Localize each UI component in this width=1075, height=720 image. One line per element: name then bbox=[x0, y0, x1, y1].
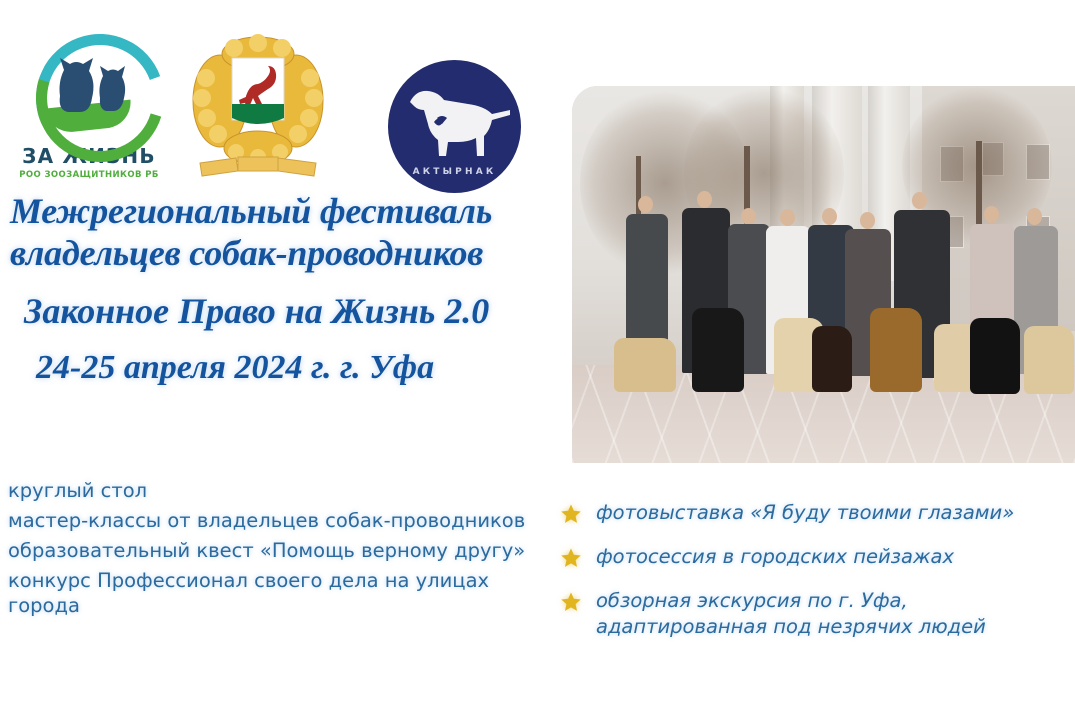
star-icon bbox=[560, 547, 582, 569]
festival-date-place: 24-25 апреля 2024 г. г. Уфа bbox=[0, 346, 578, 390]
festival-name: Законное Право на Жизнь 2.0 bbox=[0, 288, 578, 334]
star-icon bbox=[560, 591, 582, 613]
list-item: фотовыставка «Я буду твоими глазами» bbox=[560, 500, 1075, 526]
aktyrnak-label: АКТЫРНАК bbox=[388, 167, 521, 177]
dog-and-cat-in-circle-logo bbox=[30, 32, 148, 142]
list-item: образовательный квест «Помощь верному др… bbox=[8, 538, 564, 563]
logo-za-zhizn-subtitle: РОО ЗООЗАЩИТНИКОВ РБ bbox=[14, 170, 164, 180]
list-item: фотосессия в городских пейзажах bbox=[560, 544, 1075, 570]
logo-ufa-coat-of-arms bbox=[176, 26, 340, 186]
logo-za-zhizn: ЗА ЖИЗНЬ РОО ЗООЗАЩИТНИКОВ РБ bbox=[14, 32, 164, 187]
list-item: обзорная экскурсия по г. Уфа, адаптирова… bbox=[560, 588, 1075, 640]
group-photo bbox=[572, 86, 1075, 463]
poster-headings: Межрегиональный фестиваль владельцев соб… bbox=[0, 190, 578, 390]
star-icon bbox=[560, 503, 582, 525]
list-item: конкурс Профессионал своего дела на улиц… bbox=[8, 568, 564, 618]
list-item-label: фотовыставка «Я буду твоими глазами» bbox=[596, 500, 1014, 526]
guide-dog bbox=[812, 326, 852, 392]
list-item: круглый стол bbox=[8, 478, 564, 503]
festival-poster: ЗА ЖИЗНЬ РОО ЗООЗАЩИТНИКОВ РБ bbox=[0, 0, 1075, 720]
left-program-list: круглый стол мастер-классы от владельцев… bbox=[8, 478, 564, 623]
dog-and-cat-silhouette-icon bbox=[50, 54, 128, 116]
ufa-coat-of-arms-icon bbox=[176, 26, 340, 186]
logo-aktyrnak: АКТЫРНАК bbox=[388, 60, 528, 200]
guide-dog bbox=[870, 308, 922, 392]
guide-dog bbox=[614, 338, 676, 392]
list-item: мастер-классы от владельцев собак-провод… bbox=[8, 508, 564, 533]
list-item-label: обзорная экскурсия по г. Уфа, адаптирова… bbox=[596, 588, 1075, 640]
list-item-label: фотосессия в городских пейзажах bbox=[596, 544, 954, 570]
guide-dog bbox=[970, 318, 1020, 394]
festival-title-line2: владельцев собак-проводников bbox=[0, 232, 578, 274]
group-photo-image bbox=[572, 86, 1075, 463]
aktyrnak-dog-logo: АКТЫРНАК bbox=[388, 60, 521, 193]
festival-title-line1: Межрегиональный фестиваль bbox=[0, 190, 578, 232]
guide-dog bbox=[1024, 326, 1074, 394]
logo-row: ЗА ЖИЗНЬ РОО ЗООЗАЩИТНИКОВ РБ bbox=[0, 22, 560, 187]
right-program-list: фотовыставка «Я буду твоими глазами» фот… bbox=[560, 500, 1075, 658]
guide-dog bbox=[692, 308, 744, 392]
